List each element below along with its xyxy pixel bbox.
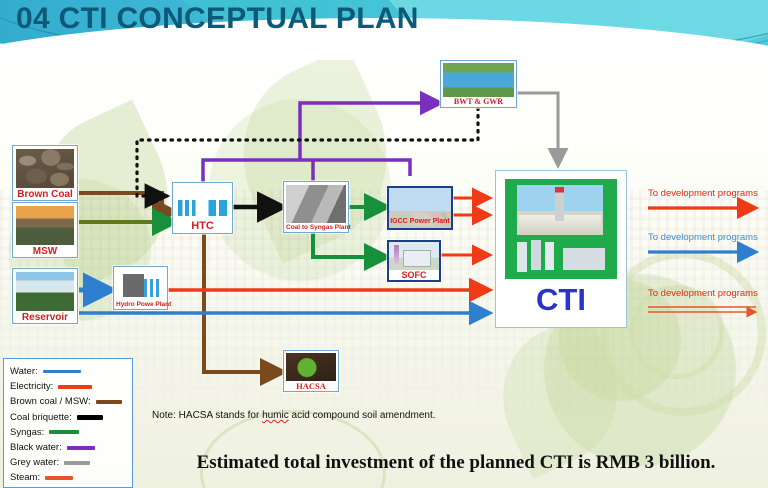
legend-swatch-coal-briquette — [77, 415, 103, 420]
legend-swatch-black-water — [67, 446, 95, 450]
node-label: SOFC — [389, 270, 439, 280]
legend-label: Grey water: — [10, 457, 59, 468]
bwt-gwr-thumbnail — [443, 63, 514, 97]
output-label-electricity: To development programs — [648, 188, 758, 199]
legend-swatch-grey-water — [64, 461, 90, 465]
legend-label: Water: — [10, 366, 38, 377]
node-label: Coal to Syngas Plant — [286, 223, 346, 232]
legend-item: Water: — [10, 364, 126, 379]
legend-swatch-electricity — [58, 385, 92, 389]
node-cti[interactable]: CTI — [495, 170, 627, 328]
legend-label: Coal briquette: — [10, 412, 72, 423]
legend-label: Syngas: — [10, 427, 44, 438]
legend-item: Syngas: — [10, 425, 126, 440]
legend-label: Electricity: — [10, 381, 53, 392]
legend-label: Steam: — [10, 472, 40, 483]
legend-swatch-steam — [45, 476, 73, 480]
legend-item: Grey water: — [10, 455, 126, 470]
legend-label: Brown coal / MSW: — [10, 396, 91, 407]
legend-item: Brown coal / MSW: — [10, 394, 126, 409]
node-htc[interactable]: HTC — [172, 182, 233, 234]
node-sofc[interactable]: SOFC — [387, 240, 441, 282]
node-hacsa[interactable]: HACSA — [283, 350, 339, 392]
hacsa-note: Note: HACSA stands for humic acid compou… — [152, 410, 436, 421]
htc-thumbnail — [175, 186, 230, 220]
node-reservoir[interactable]: Reservoir — [12, 268, 78, 324]
node-label: IGCC Power Plant — [389, 217, 451, 227]
legend-swatch-water — [43, 370, 81, 373]
node-msw[interactable]: MSW — [12, 202, 78, 258]
page-title: 04 CTI CONCEPTUAL PLAN — [16, 2, 419, 36]
legend-item: Electricity: — [10, 379, 126, 394]
hacsa-thumbnail — [286, 353, 336, 381]
legend-item: Coal briquette: — [10, 410, 126, 425]
cti-thumbnail — [505, 179, 617, 279]
legend-item: Black water: — [10, 440, 126, 455]
node-label: HTC — [175, 220, 230, 233]
node-label: BWT & GWR — [443, 97, 514, 107]
node-coal-to-syngas-plant[interactable]: Coal to Syngas Plant — [283, 181, 349, 233]
legend-panel: Water: Electricity: Brown coal / MSW: Co… — [3, 358, 133, 488]
node-igcc-power-plant[interactable]: IGCC Power Plant — [387, 186, 453, 230]
reservoir-thumbnail — [16, 272, 74, 311]
legend-swatch-syngas — [49, 430, 79, 434]
note-underlined-word: humic — [262, 410, 289, 421]
node-hydro-power-plant[interactable]: Hydro Powe Plant — [113, 266, 168, 310]
hydro-power-plant-thumbnail — [116, 270, 165, 301]
legend-item: Steam: — [10, 470, 126, 485]
slide-canvas: 04 CTI CONCEPTUAL PLAN — [0, 0, 768, 488]
msw-thumbnail — [16, 206, 74, 245]
node-label: Reservoir — [16, 311, 74, 323]
node-label: Brown Coal — [16, 188, 74, 200]
output-label-steam: To development programs — [648, 288, 758, 299]
node-bwt-gwr[interactable]: BWT & GWR — [440, 60, 517, 108]
coal-to-syngas-thumbnail — [286, 185, 346, 223]
legend-swatch-brown-coal — [96, 400, 122, 404]
legend-label: Black water: — [10, 442, 62, 453]
investment-statement: Estimated total investment of the planne… — [150, 452, 762, 474]
note-suffix: acid compound soil amendment. — [289, 410, 436, 421]
node-label: MSW — [16, 245, 74, 257]
sofc-thumbnail — [389, 242, 439, 270]
output-label-water: To development programs — [648, 232, 758, 243]
note-prefix: Note: HACSA stands for — [152, 410, 262, 421]
node-label: Hydro Powe Plant — [116, 301, 165, 309]
node-label: HACSA — [286, 381, 336, 391]
brown-coal-thumbnail — [16, 149, 74, 188]
cti-label: CTI — [536, 283, 586, 317]
node-brown-coal[interactable]: Brown Coal — [12, 145, 78, 201]
